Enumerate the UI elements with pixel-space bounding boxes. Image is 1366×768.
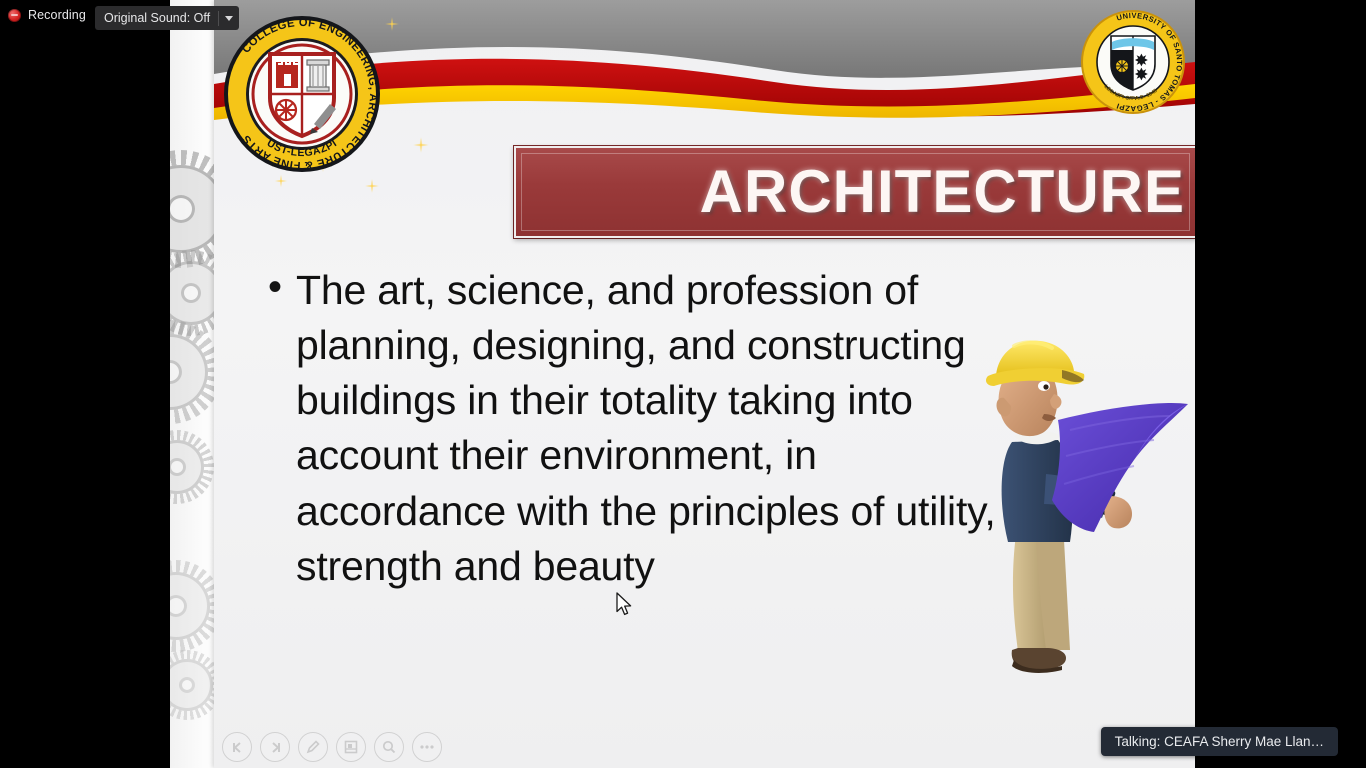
divider: [218, 11, 219, 26]
gear-decoration-icon: [170, 560, 220, 652]
page-title: ARCHITECTURE: [700, 162, 1185, 222]
slide-body-block: • The art, science, and profession of pl…: [268, 263, 1008, 594]
slide-body-text: The art, science, and profession of plan…: [296, 263, 1008, 594]
sparkle-decoration-icon: [410, 134, 432, 156]
slide-content-card: COLLEGE OF ENGINEERING, ARCHITECTURE & F…: [214, 0, 1195, 768]
slide-grid-button[interactable]: [336, 732, 366, 762]
ceafa-seal-logo: COLLEGE OF ENGINEERING, ARCHITECTURE & F…: [214, 6, 390, 182]
previous-slide-button[interactable]: [222, 732, 252, 762]
ust-legazpi-seal-logo: UNIVERSITY OF SANTO TOMAS - LEGAZPI LEGA…: [1077, 6, 1189, 118]
slideshow-controls[interactable]: [222, 732, 442, 762]
gear-decoration-icon: [170, 430, 214, 504]
original-sound-toggle[interactable]: Original Sound: Off: [95, 6, 239, 30]
slide-title-plate: ARCHITECTURE: [514, 146, 1195, 238]
next-slide-button[interactable]: [260, 732, 290, 762]
gear-decoration-icon: [170, 320, 220, 424]
arrow-pointer-icon: [616, 592, 634, 623]
more-options-button[interactable]: [412, 732, 442, 762]
recording-indicator[interactable]: Recording: [8, 8, 86, 22]
record-dot-icon: [8, 9, 21, 22]
original-sound-label: Original Sound: Off: [104, 11, 210, 25]
recording-label: Recording: [28, 8, 86, 22]
architect-with-blueprint-clipart: [974, 334, 1189, 694]
status-badge: Talking: CEAFA Sherry Mae Llan…: [1101, 727, 1338, 756]
presentation-slide-stage: COLLEGE OF ENGINEERING, ARCHITECTURE & F…: [170, 0, 1195, 768]
gear-texture-band: [170, 0, 220, 768]
zoom-magnifier-button[interactable]: [374, 732, 404, 762]
annotate-pen-button[interactable]: [298, 732, 328, 762]
gear-decoration-icon: [170, 650, 220, 720]
chevron-down-icon[interactable]: [225, 16, 233, 21]
bullet-marker: •: [268, 263, 282, 594]
